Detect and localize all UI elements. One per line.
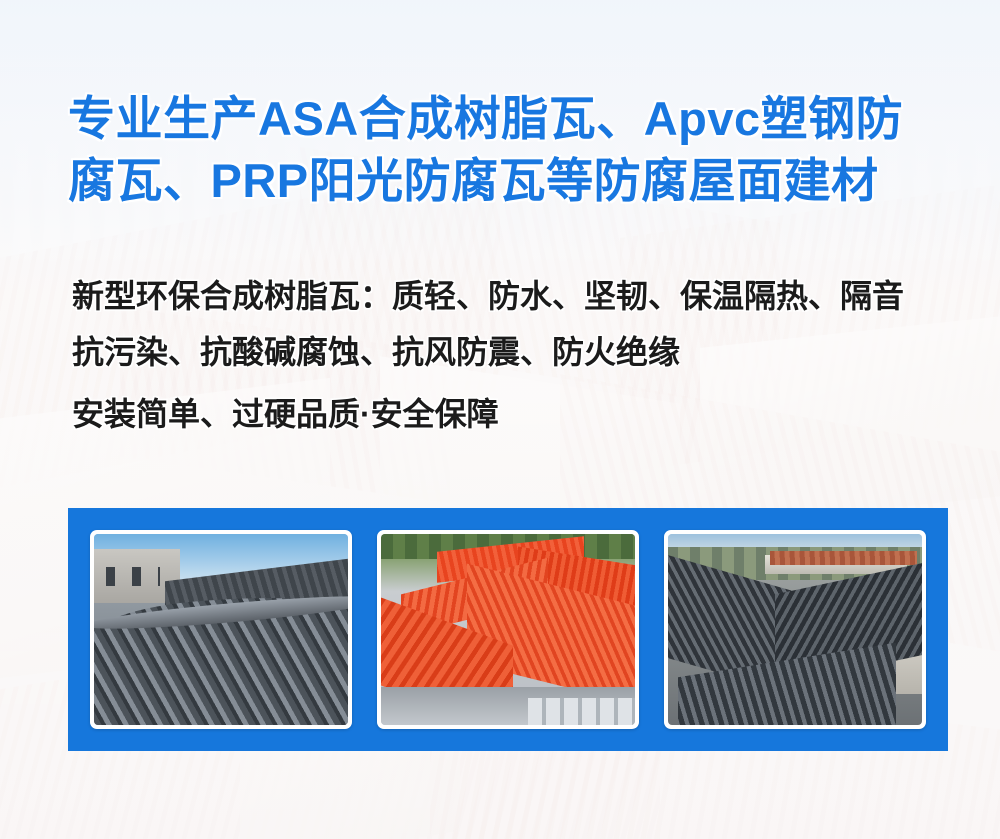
photo-frame-1 xyxy=(90,530,352,729)
photo-eave-and-facade xyxy=(381,687,635,725)
headline: 专业生产ASA合成树脂瓦、Apvc塑钢防 腐瓦、PRP阳光防腐瓦等防腐屋面建材 xyxy=(68,88,952,212)
subheadline-line-3: 安装简单、过硬品质·安全保障 xyxy=(72,386,962,442)
photo-frame-3 xyxy=(664,530,926,729)
photo-dark-grey-resin-tile-roof-closeup xyxy=(94,534,348,725)
promotional-banner: 专业生产ASA合成树脂瓦、Apvc塑钢防 腐瓦、PRP阳光防腐瓦等防腐屋面建材 … xyxy=(0,0,1000,839)
subheadline: 新型环保合成树脂瓦：质轻、防水、坚韧、保温隔热、隔音 抗污染、抗酸碱腐蚀、抗风防… xyxy=(72,268,962,442)
subheadline-line-2: 抗污染、抗酸碱腐蚀、抗风防震、防火绝缘 xyxy=(72,324,962,380)
photo-black-resin-tile-roof-aerial xyxy=(668,534,922,725)
photo-distant-red-roofs xyxy=(770,551,917,564)
headline-line-2: 腐瓦、PRP阳光防腐瓦等防腐屋面建材 xyxy=(68,150,952,212)
photo-frame-2 xyxy=(377,530,639,729)
product-photo-gallery xyxy=(68,508,948,751)
subheadline-line-1: 新型环保合成树脂瓦：质轻、防水、坚韧、保温隔热、隔音 xyxy=(72,268,962,324)
photo-red-asa-resin-tile-roof-aerial xyxy=(381,534,635,725)
headline-line-1: 专业生产ASA合成树脂瓦、Apvc塑钢防 xyxy=(68,88,952,150)
